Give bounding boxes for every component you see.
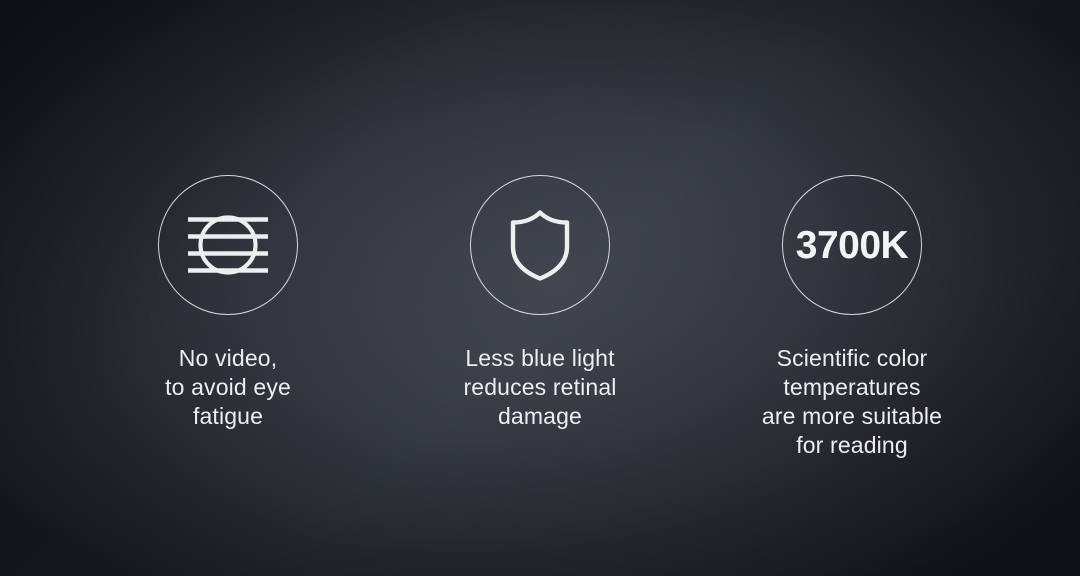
feature-icon-ring-1 bbox=[158, 175, 298, 315]
feature-caption-2: Less blue light reduces retinal damage bbox=[463, 344, 616, 431]
feature-item-no-video: No video, to avoid eye fatigue bbox=[72, 175, 384, 431]
feature-caption-3: Scientific color temperatures are more s… bbox=[762, 344, 942, 460]
feature-columns: No video, to avoid eye fatigue Less blue… bbox=[0, 0, 1080, 576]
color-temperature-icon: 3700K bbox=[796, 226, 908, 265]
shield-icon bbox=[509, 209, 571, 281]
feature-icon-ring-2 bbox=[470, 175, 610, 315]
feature-caption-1: No video, to avoid eye fatigue bbox=[165, 344, 291, 431]
feature-banner: No video, to avoid eye fatigue Less blue… bbox=[0, 0, 1080, 576]
no-flicker-icon bbox=[186, 205, 270, 285]
feature-item-blue-light: Less blue light reduces retinal damage bbox=[384, 175, 696, 431]
feature-icon-ring-3: 3700K bbox=[782, 175, 922, 315]
feature-item-color-temperature: 3700K Scientific color temperatures are … bbox=[696, 175, 1008, 460]
